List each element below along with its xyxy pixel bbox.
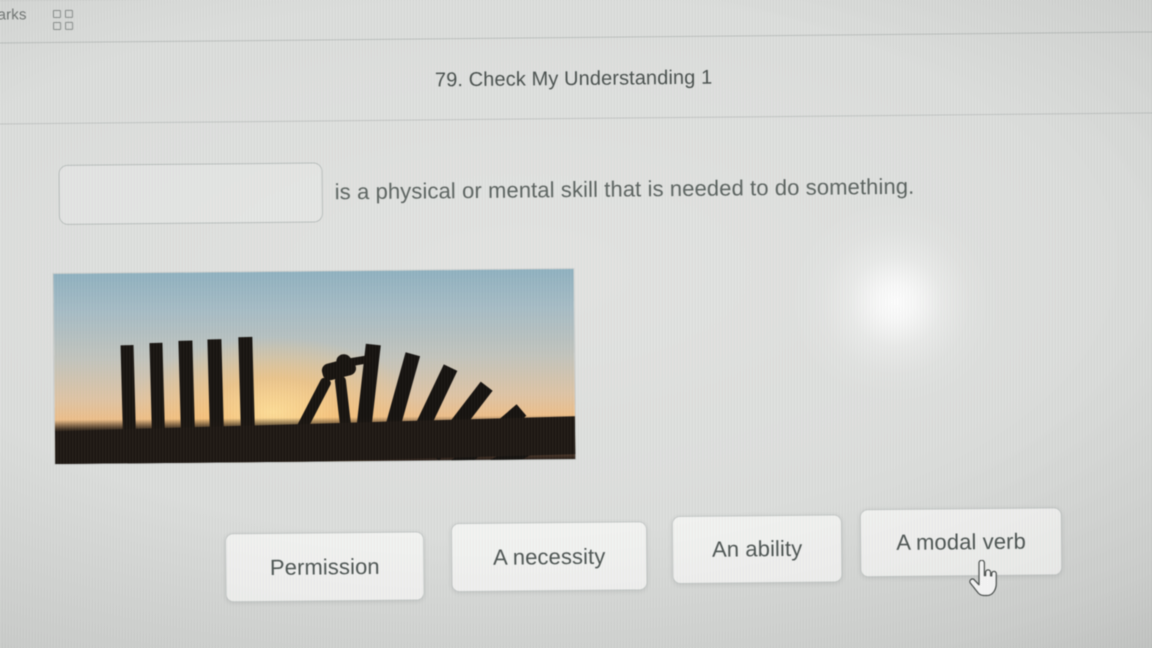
answer-option-an-ability[interactable]: An ability bbox=[672, 514, 843, 584]
answer-option-label: A modal verb bbox=[896, 529, 1026, 556]
screen-photo: narks 79. Check My Understanding 1 is a … bbox=[0, 0, 1152, 648]
grid-icon-square bbox=[53, 22, 61, 30]
answer-option-label: A necessity bbox=[493, 543, 606, 570]
sentence-text: is a physical or mental skill that is ne… bbox=[335, 174, 915, 206]
grid-icon-square bbox=[65, 22, 73, 30]
grid-icon-square bbox=[53, 10, 61, 18]
bookmarks-bar: narks bbox=[0, 0, 1152, 42]
title-divider bbox=[0, 112, 1152, 124]
domino-sunset-illustration bbox=[53, 269, 575, 464]
bookmarks-label[interactable]: narks bbox=[0, 6, 27, 23]
grid-icon-square bbox=[65, 10, 73, 18]
answer-option-label: Permission bbox=[270, 553, 380, 580]
answer-option-a-modal-verb[interactable]: A modal verb bbox=[860, 507, 1063, 577]
answer-option-label: An ability bbox=[712, 536, 803, 563]
fill-in-the-blank-row: is a physical or mental skill that is ne… bbox=[58, 155, 1059, 229]
answer-option-permission[interactable]: Permission bbox=[225, 531, 425, 602]
question-title: 79. Check My Understanding 1 bbox=[0, 62, 1152, 96]
answer-option-a-necessity[interactable]: A necessity bbox=[451, 521, 648, 592]
answer-blank-dropzone[interactable] bbox=[58, 162, 323, 225]
apps-grid-icon[interactable] bbox=[53, 10, 75, 32]
browser-page: narks 79. Check My Understanding 1 is a … bbox=[0, 0, 1152, 648]
